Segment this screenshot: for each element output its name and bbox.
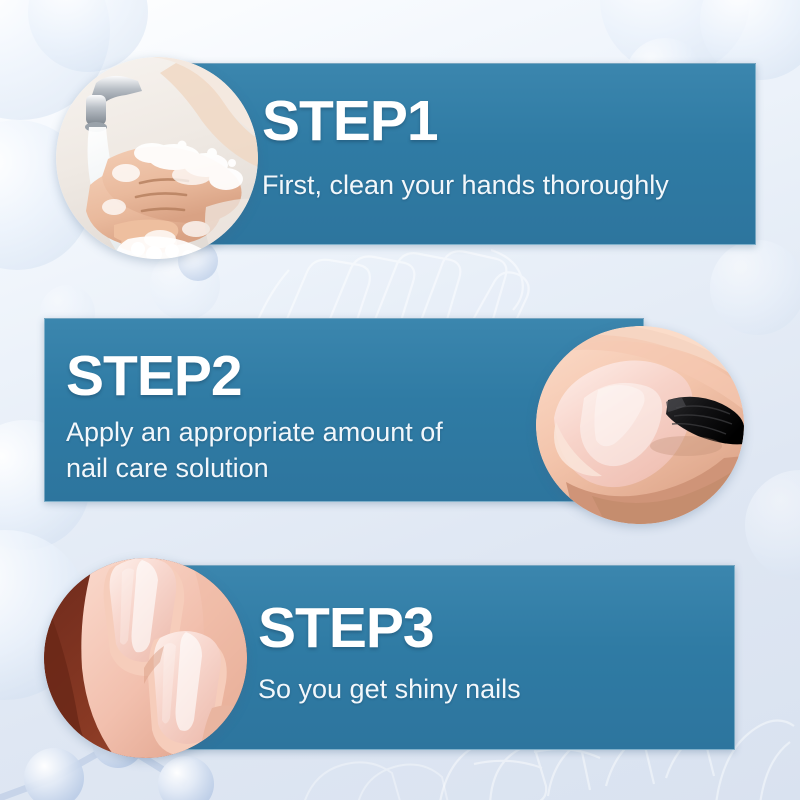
step3-description: So you get shiny nails bbox=[258, 672, 708, 708]
step2-description: Apply an appropriate amount of nail care… bbox=[66, 415, 526, 486]
step1-title: STEP1 bbox=[262, 93, 438, 150]
step1-description: First, clean your hands thoroughly bbox=[262, 168, 742, 204]
bubble-decoration bbox=[710, 240, 800, 335]
step2-title: STEP2 bbox=[66, 348, 242, 405]
step3-title: STEP3 bbox=[258, 600, 434, 657]
bubble-decoration bbox=[745, 470, 800, 580]
shiny-nails-photo bbox=[44, 558, 247, 758]
bubble-decoration bbox=[150, 250, 220, 320]
applying-nail-solution-photo bbox=[536, 326, 744, 524]
nail-lineart-decoration bbox=[300, 755, 470, 800]
instruction-poster: STEP1 First, clean your hands thoroughly bbox=[0, 0, 800, 800]
washing-hands-photo bbox=[56, 57, 258, 259]
